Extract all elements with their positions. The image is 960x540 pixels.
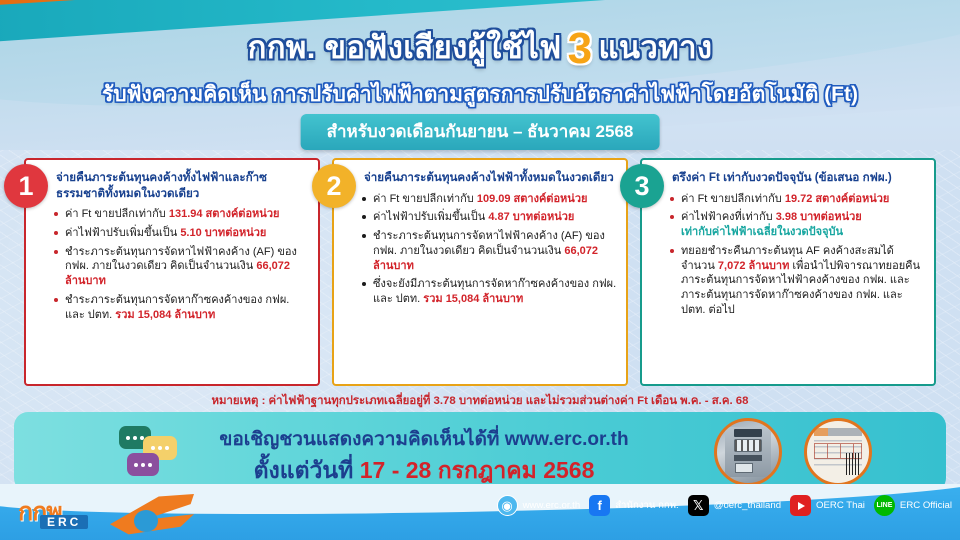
logo-erc-text: ERC (40, 515, 88, 529)
social-label: สำนักงาน กกพ. (615, 498, 679, 513)
page-subtitle: รับฟังความคิดเห็น การปรับค่าไฟฟ้าตามสูตร… (0, 78, 960, 111)
title-text-before: กกพ. ขอฟังเสียงผู้ใช้ไฟ (248, 30, 562, 65)
meter-body (725, 427, 771, 477)
period-banner: สำหรับงวดเดือนกันยายน – ธันวาคม 2568 (301, 114, 660, 150)
meter-label-strip (734, 429, 762, 437)
option-bullets-2: ค่า Ft ขายปลีกเท่ากับ 109.09 สตางค์ต่อหน… (360, 192, 618, 307)
list-item: ค่า Ft ขายปลีกเท่ากับ 19.72 สตางค์ต่อหน่… (668, 192, 926, 207)
option-heading-3: ตรึงค่า Ft เท่ากับงวดปัจจุบัน (ข้อเสนอ ก… (668, 170, 926, 186)
option-bullets-3: ค่า Ft ขายปลีกเท่ากับ 19.72 สตางค์ต่อหน่… (668, 192, 926, 318)
bullet-highlight: 19.72 สตางค์ต่อหน่วย (785, 193, 890, 205)
bill-barcode (846, 453, 860, 475)
option-card-3: 3 ตรึงค่า Ft เท่ากับงวดปัจจุบัน (ข้อเสนอ… (640, 158, 936, 386)
option-badge-2: 2 (312, 164, 356, 208)
option-bullets-1: ค่า Ft ขายปลีกเท่ากับ 131.94 สตางค์ต่อหน… (52, 207, 310, 322)
bill-header (814, 428, 862, 436)
bullet-subnote-teal: เท่ากับค่าไฟฟ้าเฉลี่ยในงวดปัจจุบัน (681, 226, 843, 238)
social-label: ERC Official (900, 500, 952, 511)
title-number-three: 3 (568, 27, 593, 71)
social-label: @oerc_thailand (714, 500, 781, 511)
bullet-text: ค่าไฟฟ้าคงที่เท่ากับ (681, 211, 776, 223)
call-to-action-banner: ขอเชิญชวนแสดงความคิดเห็นได้ที่ www.erc.o… (14, 412, 946, 492)
social-label: www.erc.or.th (523, 500, 581, 511)
option-badge-3: 3 (620, 164, 664, 208)
title-text-after: แนวทาง (598, 30, 712, 65)
options-card-list: 1 จ่ายคืนภาระต้นทุนคงค้างทั้งไฟฟ้าและก๊า… (24, 158, 936, 386)
cta-date-value: 17 - 28 กรกฎาคม 2568 (360, 457, 595, 483)
social-link-youtube[interactable]: OERC Thai (790, 495, 865, 516)
meter-digit-register (734, 439, 762, 452)
bullet-highlight: 131.94 สตางค์ต่อหน่วย (169, 208, 280, 220)
bullet-text: ค่า Ft ขายปลีกเท่ากับ (681, 193, 785, 205)
facebook-icon: f (589, 495, 610, 516)
list-item: ค่าไฟฟ้าปรับเพิ่มขึ้นเป็น 5.10 บาทต่อหน่… (52, 226, 310, 241)
infographic-page: กกพ. ขอฟังเสียงผู้ใช้ไฟ3แนวทาง รับฟังควา… (0, 0, 960, 540)
meter-nameplate (734, 455, 762, 461)
social-link-x[interactable]: 𝕏 @oerc_thailand (688, 495, 781, 516)
list-item: ค่าไฟฟ้าปรับเพิ่มขึ้นเป็น 4.87 บาทต่อหน่… (360, 210, 618, 225)
bullet-highlight: 3.98 บาทต่อหน่วย (776, 211, 862, 223)
bullet-highlight: 5.10 บาทต่อหน่วย (180, 227, 266, 239)
list-item: ค่า Ft ขายปลีกเท่ากับ 109.09 สตางค์ต่อหน… (360, 192, 618, 207)
footnote: หมายเหตุ : ค่าไฟฟ้าฐานทุกประเภทเฉลี่ยอยู… (0, 392, 960, 410)
electric-meter-photo (714, 418, 782, 486)
meter-serial-box (735, 463, 753, 473)
bullet-text: ค่า Ft ขายปลีกเท่ากับ (65, 208, 169, 220)
youtube-icon (790, 495, 811, 516)
bullet-text: ค่าไฟฟ้าปรับเพิ่มขึ้นเป็น (65, 227, 180, 239)
social-links: ◉ www.erc.or.th f สำนักงาน กกพ. 𝕏 @oerc_… (497, 495, 952, 516)
bullet-highlight: 109.09 สตางค์ต่อหน่วย (477, 193, 588, 205)
bullet-text: ค่า Ft ขายปลีกเท่ากับ (373, 193, 477, 205)
globe-icon: ◉ (497, 495, 518, 516)
list-item: ค่า Ft ขายปลีกเท่ากับ 131.94 สตางค์ต่อหน… (52, 207, 310, 222)
social-link-line[interactable]: LINE ERC Official (874, 495, 952, 516)
cta-date-prefix: ตั้งแต่วันที่ (254, 457, 360, 483)
bullet-highlight: 4.87 บาทต่อหน่วย (488, 211, 574, 223)
line-icon: LINE (874, 495, 895, 516)
bullet-highlight: รวม 15,084 ล้านบาท (423, 293, 523, 305)
option-heading-2: จ่ายคืนภาระต้นทุนคงค้างไฟฟ้าทั้งหมดในงวด… (360, 170, 618, 186)
bullet-text: ค่าไฟฟ้าปรับเพิ่มขึ้นเป็น (373, 211, 488, 223)
list-item: ซึ่งจะยังมีภาระต้นทุนการจัดหาก๊าซคงค้างข… (360, 277, 618, 306)
list-item: ชำระภาระต้นทุนการจัดหาก๊าซคงค้างของ กฟผ.… (52, 293, 310, 322)
social-link-website[interactable]: ◉ www.erc.or.th (497, 495, 581, 516)
logo-dot-icon (134, 510, 158, 532)
cta-invite-text[interactable]: ขอเชิญชวนแสดงความคิดเห็นได้ที่ www.erc.o… (164, 424, 684, 454)
list-item: ค่าไฟฟ้าคงที่เท่ากับ 3.98 บาทต่อหน่วยเท่… (668, 210, 926, 239)
electricity-bill-photo (804, 418, 872, 486)
bullet-highlight: รวม 15,084 ล้านบาท (115, 309, 215, 321)
social-link-facebook[interactable]: f สำนักงาน กกพ. (589, 495, 679, 516)
option-card-1: 1 จ่ายคืนภาระต้นทุนคงค้างทั้งไฟฟ้าและก๊า… (24, 158, 320, 386)
list-item: ชำระภาระต้นทุนการจัดหาไฟฟ้าคงค้าง (AF) ข… (52, 245, 310, 289)
bullet-highlight: 7,072 ล้านบาท (718, 260, 789, 272)
option-card-2: 2 จ่ายคืนภาระต้นทุนคงค้างไฟฟ้าทั้งหมดในง… (332, 158, 628, 386)
footer-bar: กกพ ERC ◉ www.erc.or.th f สำนักงาน กกพ. … (0, 484, 960, 540)
social-label: OERC Thai (816, 500, 865, 511)
page-title: กกพ. ขอฟังเสียงผู้ใช้ไฟ3แนวทาง (0, 22, 960, 72)
list-item: ชำระภาระต้นทุนการจัดหาไฟฟ้าคงค้าง (AF) ข… (360, 229, 618, 273)
erc-logo: กกพ ERC (14, 490, 194, 536)
x-twitter-icon: 𝕏 (688, 495, 709, 516)
list-item: ทยอยชำระคืนภาระต้นทุน AF คงค้างสะสมได้จำ… (668, 244, 926, 318)
option-heading-1: จ่ายคืนภาระต้นทุนคงค้างทั้งไฟฟ้าและก๊าซธ… (52, 170, 310, 201)
option-badge-1: 1 (4, 164, 48, 208)
chat-bubble-purple (127, 453, 159, 476)
